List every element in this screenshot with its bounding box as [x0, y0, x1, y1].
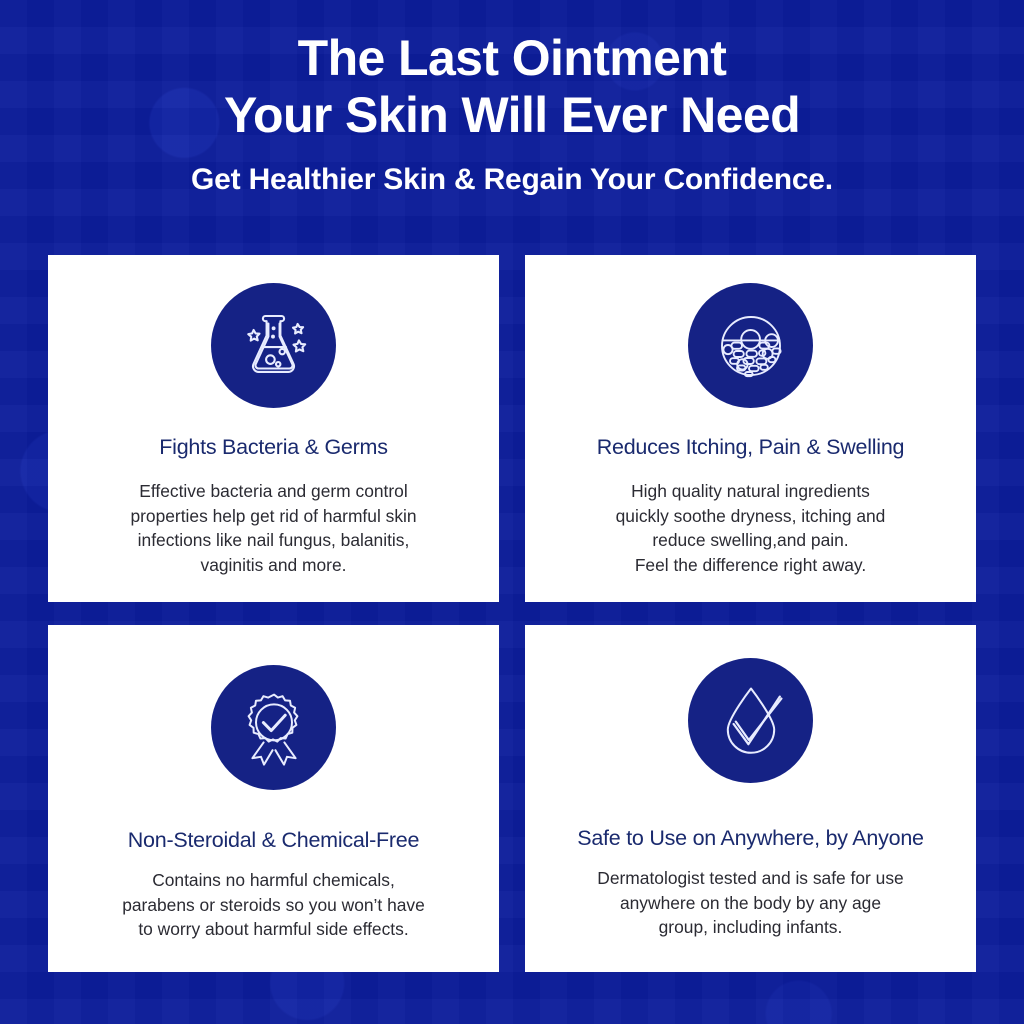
card-title: Non-Steroidal & Chemical-Free — [128, 828, 419, 854]
card-title: Reduces Itching, Pain & Swelling — [597, 435, 905, 461]
benefit-card: Safe to Use on Anywhere, by Anyone Derma… — [525, 625, 976, 972]
benefit-card: Non-Steroidal & Chemical-Free Contains n… — [48, 625, 499, 972]
card-body: Contains no harmful chemicals, parabens … — [100, 868, 447, 942]
flask-sparkle-icon — [232, 304, 316, 388]
card-body: Dermatologist tested and is safe for use… — [575, 866, 925, 940]
page-subtitle: Get Healthier Skin & Regain Your Confide… — [0, 163, 1024, 197]
award-ribbon-check-icon — [232, 686, 316, 770]
icon-badge — [211, 283, 336, 408]
card-body: High quality natural ingredients quickly… — [594, 479, 908, 578]
promo-infographic: The Last Ointment Your Skin Will Ever Ne… — [0, 0, 1024, 1024]
headline-line-2: Your Skin Will Ever Need — [0, 87, 1024, 144]
page-title: The Last Ointment Your Skin Will Ever Ne… — [0, 30, 1024, 143]
skin-cells-icon — [709, 304, 793, 388]
droplet-check-icon — [709, 679, 793, 763]
icon-badge — [688, 658, 813, 783]
benefit-card: Reduces Itching, Pain & Swelling High qu… — [525, 255, 976, 602]
headline-line-1: The Last Ointment — [0, 30, 1024, 87]
benefit-card: Fights Bacteria & Germs Effective bacter… — [48, 255, 499, 602]
card-title: Safe to Use on Anywhere, by Anyone — [577, 826, 923, 852]
icon-badge — [688, 283, 813, 408]
card-title: Fights Bacteria & Germs — [159, 435, 387, 461]
icon-badge — [211, 665, 336, 790]
card-body: Effective bacteria and germ control prop… — [108, 479, 438, 578]
benefit-card-grid: Fights Bacteria & Germs Effective bacter… — [48, 255, 976, 972]
header: The Last Ointment Your Skin Will Ever Ne… — [0, 0, 1024, 197]
